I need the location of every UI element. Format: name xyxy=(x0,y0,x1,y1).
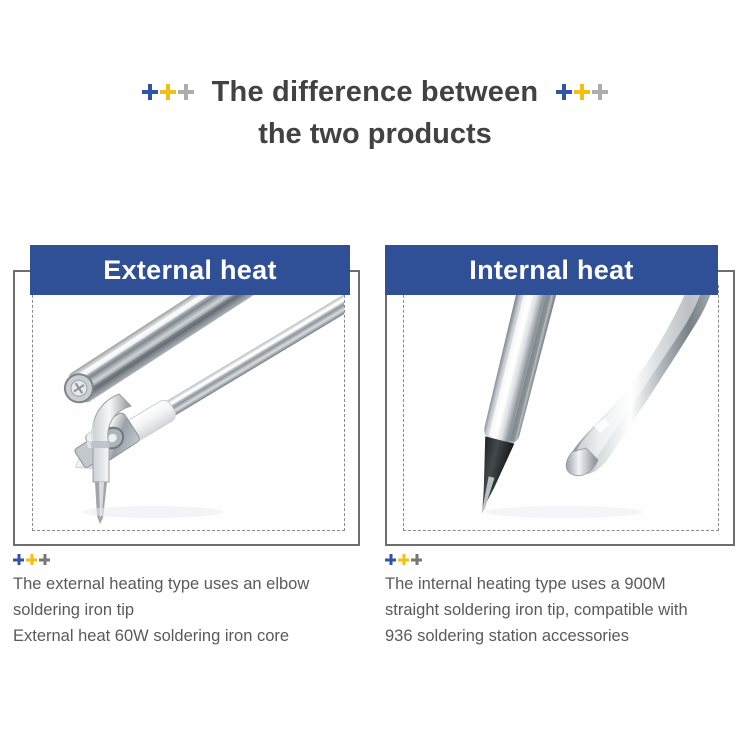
page-title-line-1: The difference between xyxy=(212,72,539,112)
plus-cluster-icon-right xyxy=(556,84,608,100)
comparison-card-external xyxy=(13,270,360,546)
description-line: soldering iron tip xyxy=(13,597,373,623)
plus-icon-gold xyxy=(160,84,176,100)
banner-internal-heat-label: Internal heat xyxy=(469,255,633,286)
description-line: 936 soldering station accessories xyxy=(385,623,740,649)
plus-icon-gold xyxy=(398,554,409,565)
elbow-soldering-iron-tip-illustration xyxy=(33,286,344,530)
plus-cluster-icon-external xyxy=(13,554,50,565)
page-title-line-2: the two products xyxy=(0,112,750,156)
description-line: straight soldering iron tip, compatible … xyxy=(385,597,740,623)
banner-internal-heat: Internal heat xyxy=(385,245,718,295)
page-title-block: The difference between the two products xyxy=(0,72,750,156)
comparison-page: The difference between the two products xyxy=(0,0,750,750)
banner-external-heat-label: External heat xyxy=(103,255,276,286)
plus-icon-blue xyxy=(13,554,24,565)
title-line-1-row: The difference between xyxy=(0,72,750,112)
plus-icon-blue xyxy=(556,84,572,100)
comparison-card-internal xyxy=(385,270,735,546)
description-line: The internal heating type uses a 900M xyxy=(385,571,740,597)
description-external-heat: The external heating type uses an elbow … xyxy=(13,552,373,649)
straight-soldering-iron-tip-illustration xyxy=(404,286,718,530)
description-internal-heat: The internal heating type uses a 900M st… xyxy=(385,552,740,649)
banner-external-heat: External heat xyxy=(30,245,350,295)
plus-icon-gray xyxy=(39,554,50,565)
internal-heat-product-photo xyxy=(404,286,718,530)
plus-cluster-icon-left xyxy=(142,84,194,100)
plus-cluster-icon-internal xyxy=(385,554,422,565)
plus-icon-gray xyxy=(178,84,194,100)
external-heat-product-photo xyxy=(33,286,344,530)
plus-icon-gray xyxy=(411,554,422,565)
description-line: The external heating type uses an elbow xyxy=(13,571,373,597)
plus-icon-blue xyxy=(385,554,396,565)
plus-icon-gold xyxy=(26,554,37,565)
description-line: External heat 60W soldering iron core xyxy=(13,623,373,649)
plus-icon-gray xyxy=(592,84,608,100)
plus-icon-gold xyxy=(574,84,590,100)
plus-icon-blue xyxy=(142,84,158,100)
